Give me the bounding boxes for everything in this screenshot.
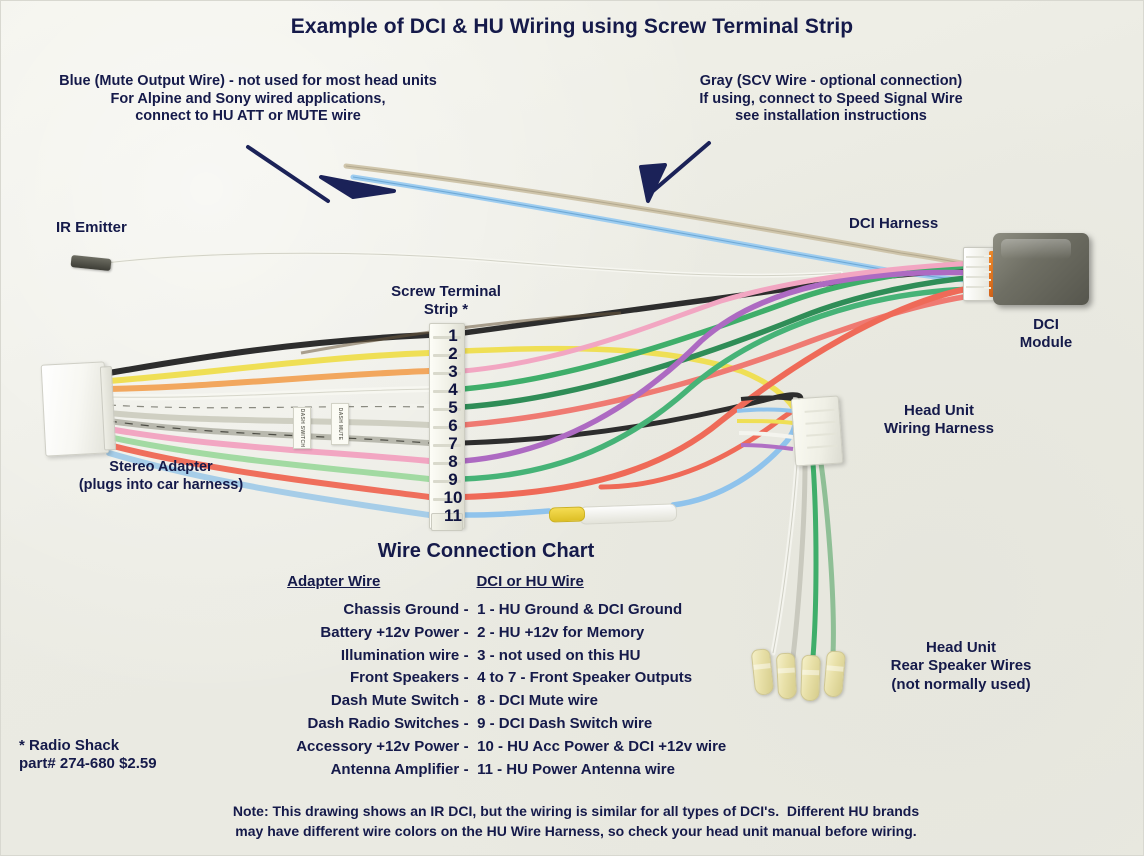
chart-row: Dash Mute Switch - 8 - DCI Mute wire xyxy=(211,690,771,713)
chart-adapter-wire: Dash Radio Switches xyxy=(211,713,459,736)
chart-header-dci: DCI or HU Wire xyxy=(476,573,583,590)
terminal-number-1: 1 xyxy=(433,326,473,346)
chart-row: Dash Radio Switches - 9 - DCI Dash Switc… xyxy=(211,713,771,736)
chart-header-adapter: Adapter Wire xyxy=(287,573,380,590)
terminal-number-9: 9 xyxy=(433,470,473,490)
dash-switch-tag-text: DASH SWITCH xyxy=(299,409,305,448)
chart-adapter-wire: Dash Mute Switch xyxy=(211,690,459,713)
label-ir-emitter: IR Emitter xyxy=(56,219,127,237)
gray-scv-wire-note: Gray (SCV Wire - optional connection) If… xyxy=(621,73,1041,126)
chart-row: Accessory +12v Power - 10 - HU Acc Power… xyxy=(211,736,771,759)
chart-separator: - xyxy=(459,759,473,782)
chart-dci-wire: 8 - DCI Mute wire xyxy=(473,690,771,713)
terminal-number-2: 2 xyxy=(433,344,473,364)
footer-note: Note: This drawing shows an IR DCI, but … xyxy=(61,801,1091,842)
chart-dci-wire: 9 - DCI Dash Switch wire xyxy=(473,713,771,736)
ir-emitter-head xyxy=(70,255,111,271)
label-dci-module: DCI Module xyxy=(996,316,1096,353)
chart-separator: - xyxy=(459,599,473,622)
terminal-number-4: 4 xyxy=(433,380,473,400)
yellow-butt-connector xyxy=(549,506,586,522)
chart-separator: - xyxy=(459,690,473,713)
wiring-diagram-page: 1 2 3 4 5 6 7 8 9 10 11 DASH SWITCH DASH… xyxy=(0,0,1144,856)
wire-connection-chart: Adapter Wire DCI or HU Wire Chassis Grou… xyxy=(211,573,771,781)
chart-dci-wire: 3 - not used on this HU xyxy=(473,645,771,668)
chart-dci-wire: 2 - HU +12v for Memory xyxy=(473,622,771,645)
terminal-number-6: 6 xyxy=(433,416,473,436)
chart-adapter-wire: Front Speakers xyxy=(211,667,459,690)
dash-switch-tag: DASH SWITCH xyxy=(293,407,311,449)
bullet-connector-3 xyxy=(800,655,821,702)
chart-separator: - xyxy=(459,645,473,668)
label-dci-harness: DCI Harness xyxy=(849,215,938,233)
page-title: Example of DCI & HU Wiring using Screw T… xyxy=(1,14,1143,40)
chart-separator: - xyxy=(459,667,473,690)
terminal-number-8: 8 xyxy=(433,452,473,472)
chart-separator: - xyxy=(459,713,473,736)
chart-dci-wire: 1 - HU Ground & DCI Ground xyxy=(473,599,771,622)
label-stereo-adapter: Stereo Adapter (plugs into car harness) xyxy=(31,459,291,494)
terminal-number-10: 10 xyxy=(433,488,473,508)
chart-row: Front Speakers - 4 to 7 - Front Speaker … xyxy=(211,667,771,690)
head-unit-harness-plug xyxy=(791,395,844,466)
terminal-number-3: 3 xyxy=(433,362,473,382)
label-radio-shack-footnote: * Radio Shack part# 274-680 $2.59 xyxy=(19,737,157,774)
clear-sleeve-connector xyxy=(579,503,678,524)
dci-module-body xyxy=(993,233,1089,305)
chart-dci-wire: 4 to 7 - Front Speaker Outputs xyxy=(473,667,771,690)
chart-adapter-wire: Battery +12v Power xyxy=(211,622,459,645)
chart-row: Antenna Amplifier - 11 - HU Power Antenn… xyxy=(211,759,771,782)
terminal-number-5: 5 xyxy=(433,398,473,418)
bullet-connector-4 xyxy=(823,650,846,697)
blue-mute-wire-note: Blue (Mute Output Wire) - not used for m… xyxy=(13,73,483,126)
dash-mute-tag: DASH MUTE xyxy=(331,403,349,445)
bullet-connector-2 xyxy=(776,653,797,700)
chart-row: Battery +12v Power - 2 - HU +12v for Mem… xyxy=(211,622,771,645)
chart-row: Chassis Ground - 1 - HU Ground & DCI Gro… xyxy=(211,599,771,622)
dash-mute-tag-text: DASH MUTE xyxy=(337,408,343,440)
module-highlight xyxy=(1001,239,1071,259)
label-head-unit-wiring-harness: Head Unit Wiring Harness xyxy=(859,402,1019,439)
connector-lip xyxy=(100,366,116,451)
label-screw-terminal-strip: Screw Terminal Strip * xyxy=(371,283,521,320)
chart-adapter-wire: Chassis Ground xyxy=(211,599,459,622)
chart-title: Wire Connection Chart xyxy=(251,539,721,563)
chart-dci-wire: 11 - HU Power Antenna wire xyxy=(473,759,771,782)
chart-adapter-wire: Accessory +12v Power xyxy=(211,736,459,759)
chart-dci-wire: 10 - HU Acc Power & DCI +12v wire xyxy=(473,736,771,759)
terminal-number-7: 7 xyxy=(433,434,473,454)
stereo-adapter-connector xyxy=(41,361,110,456)
chart-row: Illumination wire - 3 - not used on this… xyxy=(211,645,771,668)
terminal-number-11: 11 xyxy=(433,506,473,526)
chart-separator: - xyxy=(459,736,473,759)
chart-separator: - xyxy=(459,622,473,645)
label-rear-speaker-wires: Head Unit Rear Speaker Wires (not normal… xyxy=(861,639,1061,694)
chart-header-row: Adapter Wire DCI or HU Wire xyxy=(211,573,771,590)
chart-adapter-wire: Antenna Amplifier xyxy=(211,759,459,782)
chart-adapter-wire: Illumination wire xyxy=(211,645,459,668)
